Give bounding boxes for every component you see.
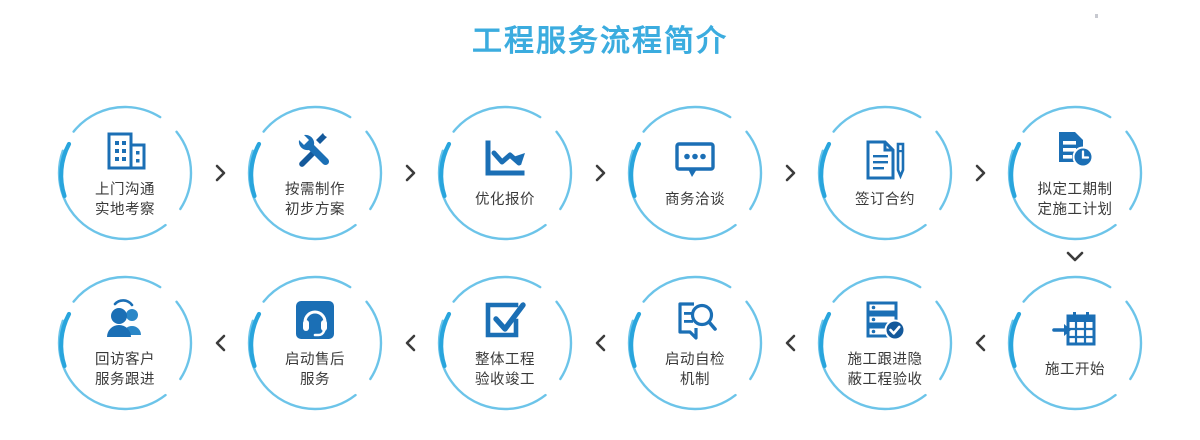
flow-step-7[interactable]: 施工开始	[1002, 270, 1148, 416]
check-box-icon	[482, 296, 528, 344]
flow-step-5[interactable]: 签订合约	[812, 100, 958, 246]
customers-icon	[102, 296, 148, 344]
headset-icon	[293, 296, 337, 344]
artifact-speck	[1095, 14, 1098, 18]
flow-step-label: 拟定工期制 定施工计划	[1038, 180, 1113, 220]
flow-step-6[interactable]: 拟定工期制 定施工计划	[1002, 100, 1148, 246]
flow-separator-chevron-left-icon	[578, 270, 622, 416]
process-flow: 上门沟通 实地考察	[0, 88, 1200, 428]
flow-step-10[interactable]: 整体工程 验收竣工	[432, 270, 578, 416]
flow-separator-chevron-right-icon	[578, 100, 622, 246]
page-title: 工程服务流程简介	[0, 22, 1200, 62]
flow-step-label: 施工开始	[1045, 360, 1105, 380]
flow-step-label: 整体工程 验收竣工	[475, 350, 535, 390]
flow-step-1[interactable]: 上门沟通 实地考察	[52, 100, 198, 246]
flow-step-9[interactable]: 启动自检 机制	[622, 270, 768, 416]
flow-step-label: 按需制作 初步方案	[285, 180, 345, 220]
flow-row-2: 回访客户 服务跟进	[0, 258, 1200, 428]
flow-step-11[interactable]: 启动售后 服务	[242, 270, 388, 416]
flow-step-label: 回访客户 服务跟进	[95, 350, 155, 390]
flow-step-label: 上门沟通 实地考察	[95, 180, 155, 220]
flow-step-label: 签订合约	[855, 190, 915, 210]
flow-step-label: 优化报价	[475, 190, 535, 210]
flow-step-label: 启动售后 服务	[285, 350, 345, 390]
server-check-icon	[862, 296, 908, 344]
tools-icon	[292, 126, 338, 174]
flow-step-label: 商务洽谈	[665, 190, 725, 210]
flow-separator-chevron-left-icon	[958, 270, 1002, 416]
flow-row-1: 上门沟通 实地考察	[0, 88, 1200, 258]
building-icon	[102, 126, 148, 174]
flow-separator-chevron-left-icon	[198, 270, 242, 416]
document-clock-icon	[1052, 126, 1098, 174]
flow-step-2[interactable]: 按需制作 初步方案	[242, 100, 388, 246]
flow-separator-chevron-right-icon	[768, 100, 812, 246]
flow-step-3[interactable]: 优化报价	[432, 100, 578, 246]
flow-step-label: 施工跟进隐 蔽工程验收	[848, 350, 923, 390]
flow-step-label: 启动自检 机制	[665, 350, 725, 390]
flow-step-8[interactable]: 施工跟进隐 蔽工程验收	[812, 270, 958, 416]
flow-separator-chevron-left-icon	[768, 270, 812, 416]
flow-step-4[interactable]: 商务洽谈	[622, 100, 768, 246]
chart-down-icon	[481, 136, 529, 184]
calendar-start-icon	[1052, 306, 1098, 354]
chat-bubble-icon	[672, 136, 718, 184]
flow-separator-chevron-left-icon	[388, 270, 432, 416]
flow-step-12[interactable]: 回访客户 服务跟进	[52, 270, 198, 416]
flow-separator-chevron-right-icon	[198, 100, 242, 246]
inspect-search-icon	[672, 296, 718, 344]
contract-pen-icon	[862, 136, 908, 184]
flow-separator-chevron-right-icon	[388, 100, 432, 246]
flow-separator-chevron-right-icon	[958, 100, 1002, 246]
